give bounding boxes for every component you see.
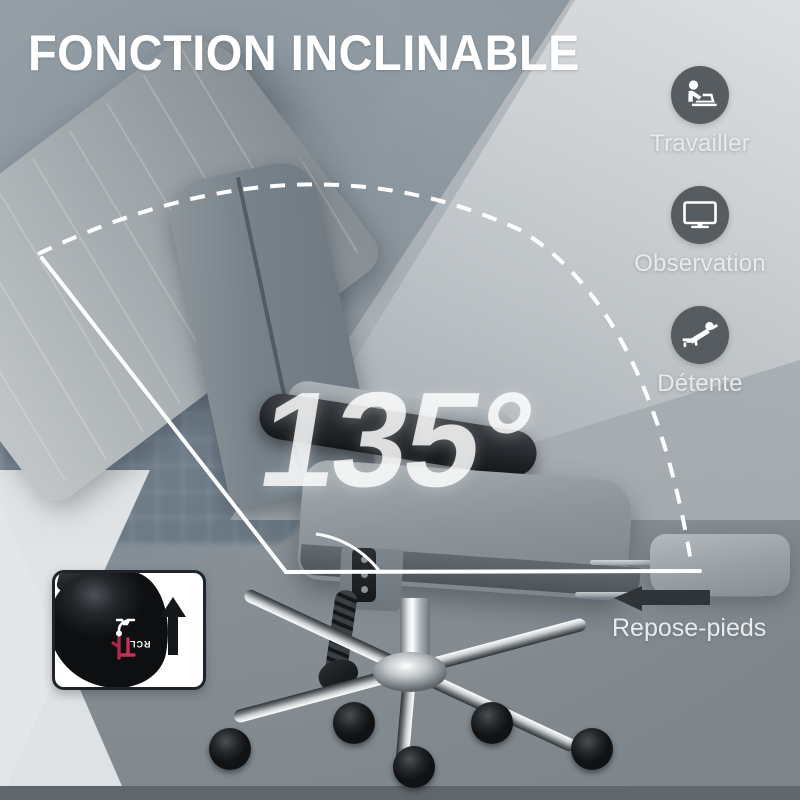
feature-item-detente[interactable]: Détente xyxy=(612,306,788,398)
recline-pictogram-icon xyxy=(99,615,143,661)
feature-item-observation[interactable]: Observation xyxy=(612,186,788,278)
feature-item-travailler[interactable]: Travailler xyxy=(612,66,788,158)
caster xyxy=(471,702,513,744)
person-at-laptop-icon xyxy=(671,66,729,124)
massage-remote xyxy=(352,548,376,602)
feature-label: Travailler xyxy=(612,130,788,158)
monitor-icon xyxy=(671,186,729,244)
up-arrow-icon xyxy=(159,597,187,657)
caster xyxy=(393,746,435,788)
caster xyxy=(333,702,375,744)
feature-list: Travailler Observation xyxy=(612,66,788,426)
feature-label: Observation xyxy=(612,250,788,278)
person-reclining-icon xyxy=(671,306,729,364)
caster xyxy=(571,728,613,770)
lever-text: RCL xyxy=(129,639,151,649)
caster xyxy=(209,728,251,770)
footrest-label: Repose-pieds xyxy=(612,614,766,643)
recline-lever-callout[interactable]: RCL xyxy=(52,570,206,690)
infographic-canvas: 135° FONCTION INCLINABLE Travailler xyxy=(0,0,800,800)
base-hub xyxy=(373,652,447,692)
angle-value: 135° xyxy=(251,372,540,507)
chair-star-base xyxy=(215,650,605,760)
left-arrow-icon xyxy=(612,586,712,612)
page-title: FONCTION INCLINABLE xyxy=(28,24,580,82)
feature-label: Détente xyxy=(612,370,788,398)
